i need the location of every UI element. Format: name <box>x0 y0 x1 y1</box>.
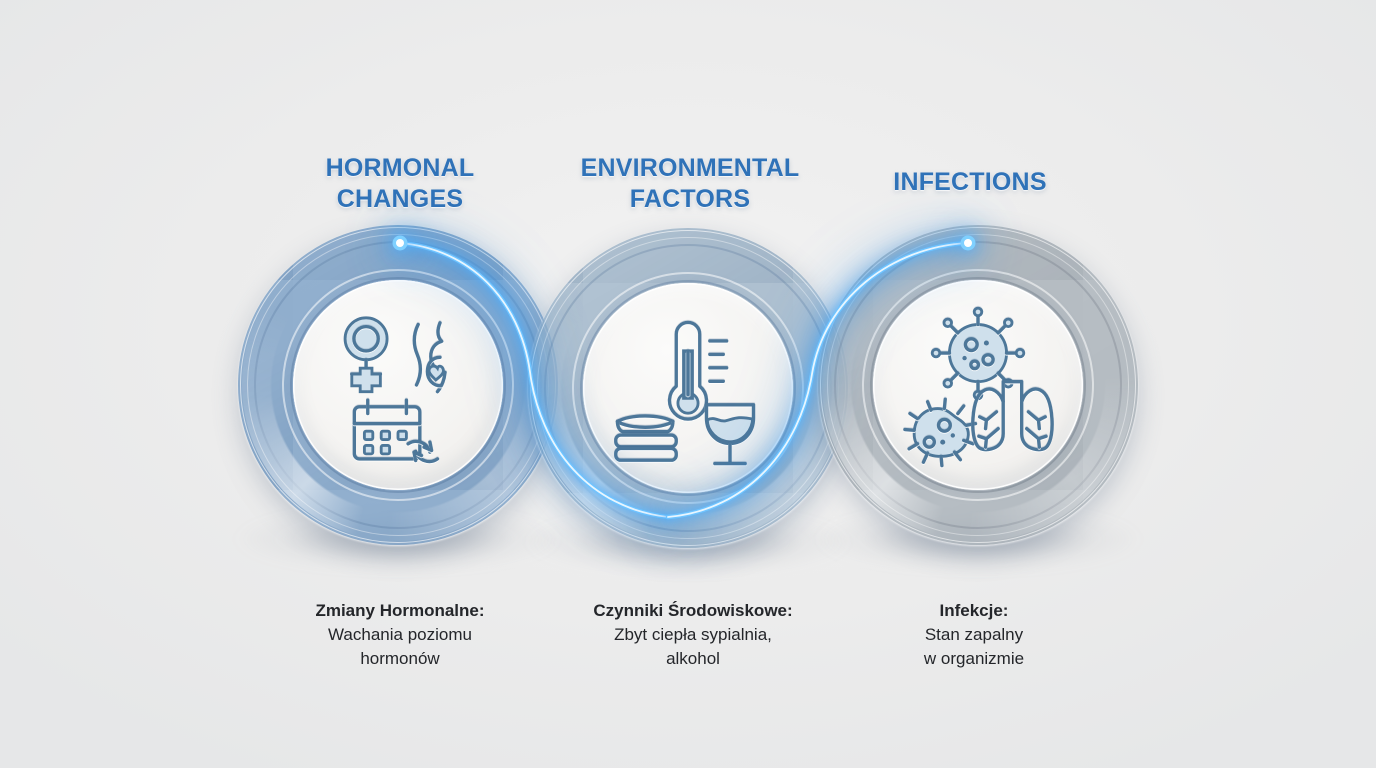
caption-environmental-factors: Czynniki Środowiskowe: Zbyt ciepła sypia… <box>552 599 834 671</box>
caption-body: Wachania poziomu hormonów <box>270 623 530 671</box>
heading-environmental-factors: ENVIRONMENTAL FACTORS <box>565 153 815 214</box>
caption-body: Zbyt ciepła sypialnia, alkohol <box>552 623 834 671</box>
caption-title: Czynniki Środowiskowe: <box>552 599 834 623</box>
caption-hormonal-changes: Zmiany Hormonalne: Wachania poziomu horm… <box>270 599 530 671</box>
heading-infections: INFECTIONS <box>845 167 1095 198</box>
caption-infections: Infekcje: Stan zapalny w organizmie <box>840 599 1108 671</box>
heading-hormonal-changes: HORMONAL CHANGES <box>275 153 525 214</box>
caption-title: Zmiany Hormonalne: <box>270 599 530 623</box>
caption-body: Stan zapalny w organizmie <box>840 623 1108 671</box>
caption-title: Infekcje: <box>840 599 1108 623</box>
